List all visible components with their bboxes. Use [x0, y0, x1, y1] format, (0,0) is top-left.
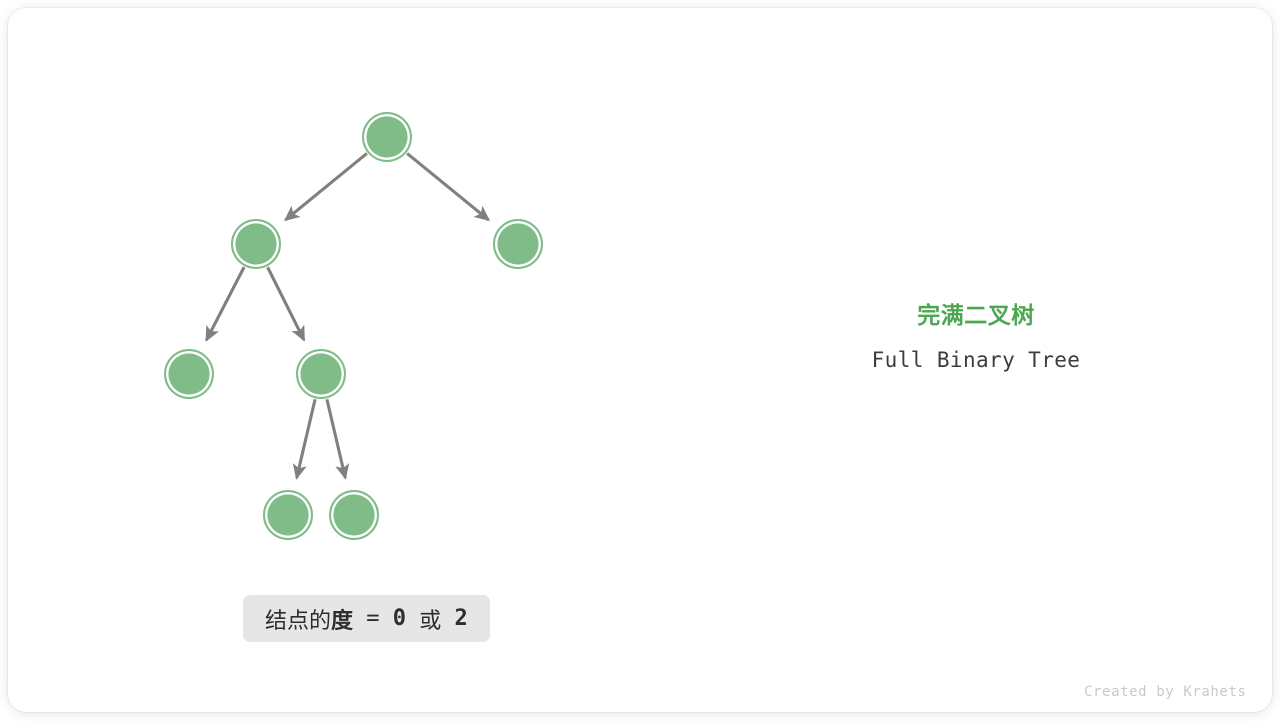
tree-node [231, 219, 281, 269]
credit-label: Created by Krahets [1084, 684, 1247, 700]
legend-title-chinese: 完满二叉树 [776, 300, 1176, 331]
legend-title-english: Full Binary Tree [776, 348, 1176, 372]
caption-segment-or: 或 [406, 603, 455, 635]
tree-node [263, 490, 313, 540]
caption-segment-prefix: 结点的 [265, 603, 331, 635]
tree-node [164, 349, 214, 399]
tree-edge [327, 399, 345, 478]
caption-segment-two: 2 [455, 606, 468, 631]
tree-edge [268, 267, 304, 340]
tree-edge [206, 267, 244, 340]
tree-edge [297, 399, 315, 478]
tree-node [296, 349, 346, 399]
diagram-canvas: 完满二叉树 Full Binary Tree 结点的度 = 0 或 2 Crea… [8, 8, 1272, 712]
caption-segment-equals: = [353, 606, 393, 631]
caption-segment-degree: 度 [331, 603, 353, 635]
degree-caption-box: 结点的度 = 0 或 2 [243, 595, 490, 642]
tree-node [362, 112, 412, 162]
tree-node [493, 219, 543, 269]
tree-node [329, 490, 379, 540]
tree-edge [407, 153, 488, 220]
caption-segment-zero: 0 [393, 606, 406, 631]
legend-block: 完满二叉树 Full Binary Tree [776, 300, 1176, 372]
tree-edge [285, 153, 366, 220]
